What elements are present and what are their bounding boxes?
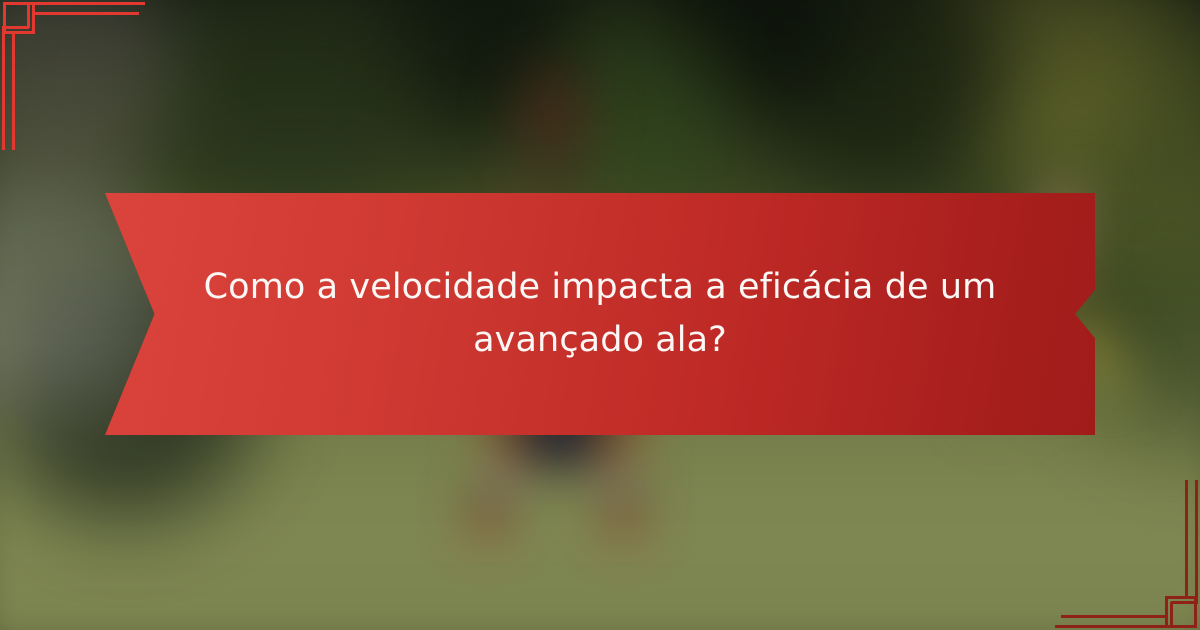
corner-rule-left-inner	[12, 34, 15, 150]
corner-rule-right-outer	[1195, 480, 1198, 604]
social-share-card: Como a velocidade impacta a eficácia de …	[0, 0, 1200, 630]
corner-ornament-top-left	[0, 0, 200, 170]
headline-text: Como a velocidade impacta a eficácia de …	[200, 261, 1000, 367]
corner-rule-left-outer-elbow	[27, 2, 30, 28]
corner-ornament-bottom-right	[1000, 460, 1200, 630]
corner-rule-top-outer	[27, 2, 145, 5]
corner-rule-bottom-outer	[1055, 625, 1173, 628]
corner-rule-left-outer	[2, 26, 5, 150]
corner-rule-right-outer-joint	[1171, 601, 1198, 604]
corner-rule-right-inner	[1185, 480, 1188, 596]
corner-rule-right-outer-elbow	[1170, 602, 1173, 628]
headline-ribbon: Como a velocidade impacta a eficácia de …	[105, 193, 1095, 435]
corner-rule-bottom-inner	[1061, 615, 1165, 618]
corner-rule-left-outer-joint	[2, 26, 29, 29]
corner-square-top-left	[3, 2, 35, 34]
corner-rule-top-inner	[35, 12, 139, 15]
